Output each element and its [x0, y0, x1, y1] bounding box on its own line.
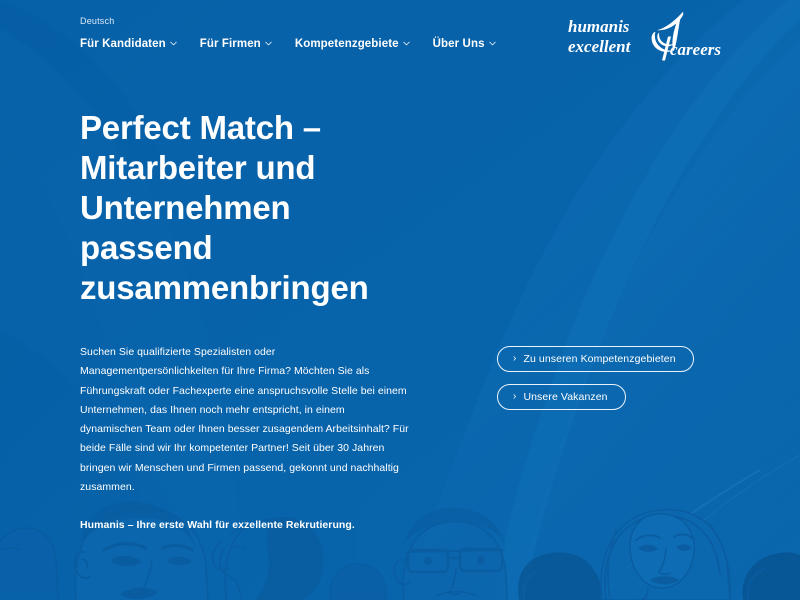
chevron-down-icon — [489, 40, 496, 47]
chevron-down-icon — [265, 40, 272, 47]
language-switcher[interactable]: Deutsch — [80, 16, 114, 26]
nav-item-label: Kompetenzgebiete — [295, 38, 399, 50]
main-navigation: Für Kandidaten Für Firmen Kompetenzgebie… — [80, 38, 496, 50]
nav-item-label: Für Firmen — [200, 38, 261, 50]
site-header: Deutsch Für Kandidaten Für Firmen — [0, 0, 800, 78]
svg-text:excellent: excellent — [568, 37, 632, 56]
cta-button-label: Zu unseren Kompetenzgebieten — [523, 353, 675, 365]
chevron-down-icon — [170, 40, 177, 47]
cta-vakanzen-button[interactable]: › Unsere Vakanzen — [497, 384, 626, 410]
chevron-down-icon — [403, 40, 410, 47]
cta-button-group: › Zu unseren Kompetenzgebieten › Unsere … — [497, 346, 694, 410]
nav-item-ueber-uns[interactable]: Über Uns — [433, 38, 496, 50]
nav-item-kompetenzgebiete[interactable]: Kompetenzgebiete — [295, 38, 410, 50]
hero-heading-line: Mitarbeiter und — [80, 149, 315, 186]
chevron-right-icon: › — [513, 354, 516, 364]
page-root: Deutsch Für Kandidaten Für Firmen — [0, 0, 800, 600]
hero-paragraph: Suchen Sie qualifizierte Spezialisten od… — [80, 343, 410, 497]
language-switcher-label: Deutsch — [80, 16, 114, 26]
cta-button-label: Unsere Vakanzen — [523, 391, 607, 403]
nav-item-label: Über Uns — [433, 38, 485, 50]
hero-heading: Perfect Match – Mitarbeiter und Unterneh… — [80, 108, 500, 308]
hero-heading-line: Perfect Match – — [80, 109, 321, 146]
nav-item-fuer-firmen[interactable]: Für Firmen — [200, 38, 272, 50]
svg-text:humanis: humanis — [568, 17, 630, 36]
hero-heading-line: Unternehmen — [80, 189, 291, 226]
svg-text:careers: careers — [670, 40, 721, 59]
hero-heading-line: passend — [80, 229, 213, 266]
nav-item-label: Für Kandidaten — [80, 38, 166, 50]
chevron-right-icon: › — [513, 392, 516, 402]
brand-logo[interactable]: humanis excellent careers — [562, 10, 722, 64]
cta-kompetenzgebiete-button[interactable]: › Zu unseren Kompetenzgebieten — [497, 346, 694, 372]
nav-item-fuer-kandidaten[interactable]: Für Kandidaten — [80, 38, 177, 50]
hero-tagline: Humanis – Ihre erste Wahl für exzellente… — [80, 516, 410, 535]
hero-heading-line: zusammenbringen — [80, 269, 369, 306]
hero-copy: Suchen Sie qualifizierte Spezialisten od… — [80, 343, 410, 536]
